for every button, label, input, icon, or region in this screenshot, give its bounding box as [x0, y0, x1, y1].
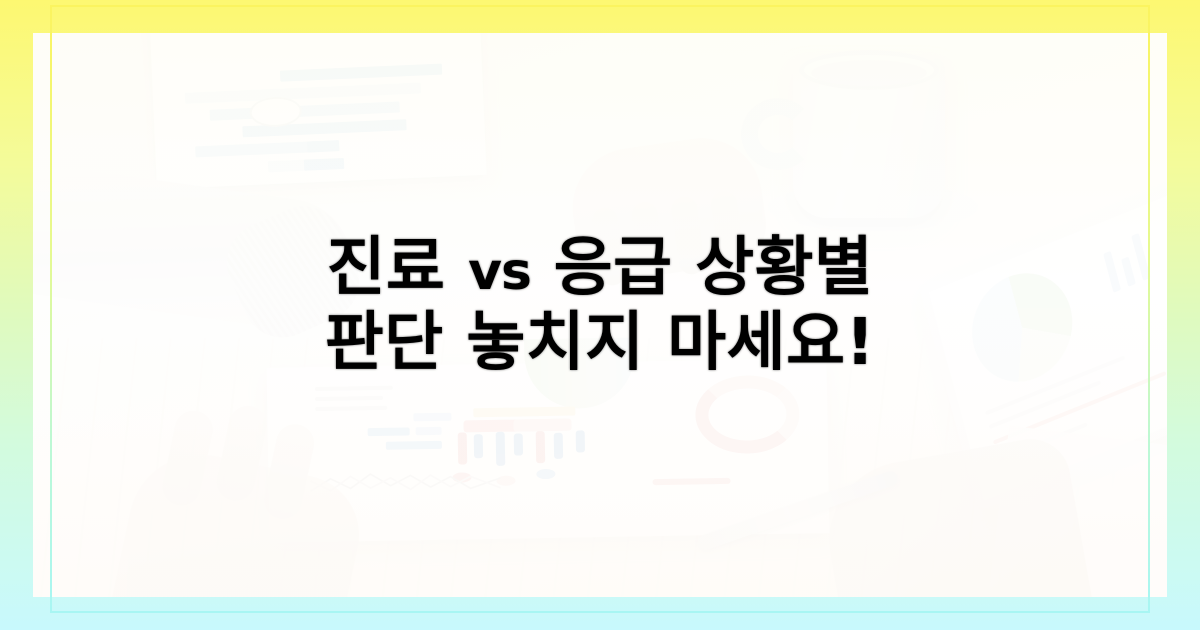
coffee-mug — [793, 58, 945, 218]
desk-scene — [33, 33, 1167, 597]
tablet-pie-chart — [960, 257, 1084, 397]
mug-handle — [741, 98, 815, 170]
document-blue-bar-chart — [149, 33, 486, 189]
background-photo — [33, 33, 1167, 597]
mug-liquid — [811, 60, 927, 86]
report-donut-chart — [695, 375, 800, 455]
report-green-pie — [524, 337, 635, 409]
banner-canvas: 진료 vs 응급 상황별 판단 놓치지 마세요! — [0, 0, 1200, 630]
